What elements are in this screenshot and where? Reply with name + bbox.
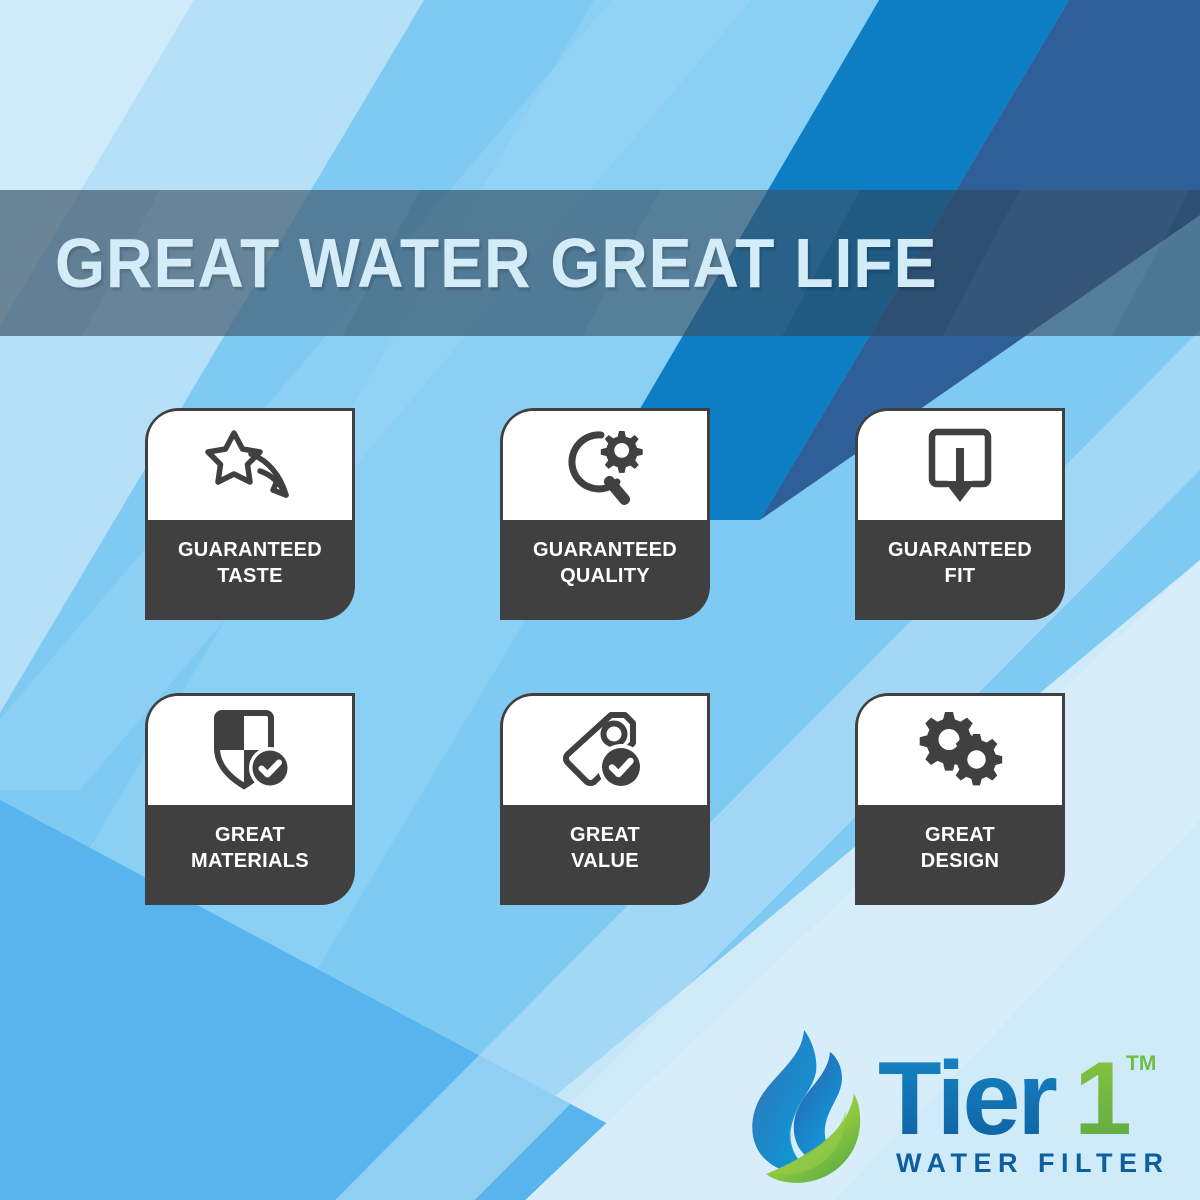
card-label-line1: GUARANTEED (888, 539, 1032, 561)
brand-name-green: 1 (1074, 1042, 1132, 1157)
card-label-line2: FIT (945, 565, 976, 587)
trademark-symbol: TM (1126, 1052, 1156, 1075)
brand-tagline: WATER FILTERS (896, 1148, 1170, 1178)
card-label-line2: VALUE (571, 850, 639, 872)
feature-card-guaranteed-fit[interactable]: GUARANTEED FIT (855, 408, 1065, 620)
card-label: GUARANTEED TASTE (145, 520, 355, 620)
shield-check-icon (206, 710, 294, 792)
price-tag-check-icon (559, 710, 651, 792)
tier1-waterdrop-leaf-mark (742, 1026, 870, 1188)
card-label-line1: GREAT (925, 824, 995, 846)
feature-card-great-value[interactable]: GREAT VALUE (500, 693, 710, 905)
card-label-line1: GUARANTEED (178, 539, 322, 561)
card-icon-area (858, 411, 1062, 520)
card-label-line2: MATERIALS (191, 850, 309, 872)
card-icon-area (503, 696, 707, 805)
two-gears-icon (915, 710, 1005, 792)
card-label: GUARANTEED FIT (855, 520, 1065, 620)
card-label: GREAT DESIGN (855, 805, 1065, 905)
card-label-line1: GREAT (570, 824, 640, 846)
shooting-star-icon (204, 427, 296, 505)
card-icon-area (148, 696, 352, 805)
card-label-line2: TASTE (217, 565, 283, 587)
feature-card-guaranteed-taste[interactable]: GUARANTEED TASTE (145, 408, 355, 620)
page-title: GREAT WATER GREAT LIFE (55, 228, 937, 298)
headline-banner: GREAT WATER GREAT LIFE (0, 190, 1200, 336)
arrow-into-box-icon (920, 426, 1000, 506)
card-label-line2: QUALITY (560, 565, 650, 587)
card-label-line1: GUARANTEED (533, 539, 677, 561)
feature-card-great-design[interactable]: GREAT DESIGN (855, 693, 1065, 905)
brand-name-blue: Tier (878, 1042, 1056, 1157)
card-label: GUARANTEED QUALITY (500, 520, 710, 620)
card-label-line1: GREAT (215, 824, 285, 846)
card-icon-area (148, 411, 352, 520)
feature-card-guaranteed-quality[interactable]: GUARANTEED QUALITY (500, 408, 710, 620)
feature-card-great-materials[interactable]: GREAT MATERIALS (145, 693, 355, 905)
card-label-line2: DESIGN (921, 850, 999, 872)
card-label: GREAT VALUE (500, 805, 710, 905)
card-icon-area (503, 411, 707, 520)
magnifier-gear-icon (558, 426, 652, 506)
card-label: GREAT MATERIALS (145, 805, 355, 905)
card-icon-area (858, 696, 1062, 805)
feature-card-grid: GUARANTEED TASTE GUARANTEED QUALITY (145, 408, 1075, 905)
brand-logo: Tier 1 TM WATER FILTERS (742, 1026, 1172, 1194)
brand-wordmark: Tier 1 TM WATER FILTERS (878, 1026, 1170, 1188)
